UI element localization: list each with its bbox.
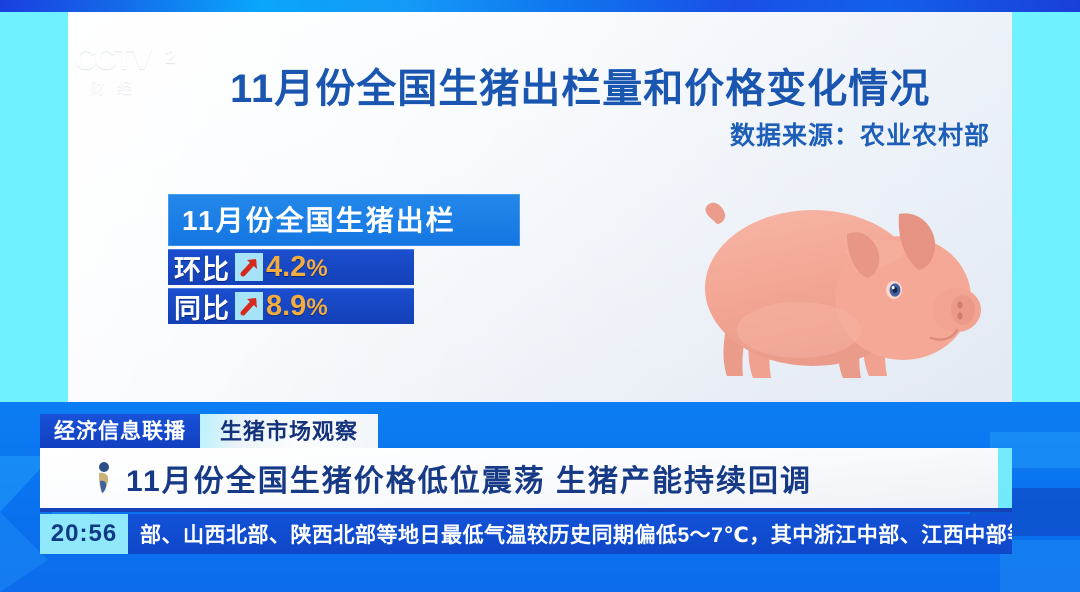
clock-time: 20:56 bbox=[40, 514, 128, 554]
stat-row-label: 同比 bbox=[174, 287, 230, 326]
stat-row-value: 8.9% bbox=[266, 290, 328, 323]
headline-text: 11月份全国生猪价格低位震荡 生猪产能持续回调 bbox=[126, 456, 812, 500]
data-source-label: 数据来源：农业农村部 bbox=[230, 116, 990, 152]
news-ticker: 20:56 部、山西北部、陕西北部等地日最低气温较历史同期偏低5～7℃，其中浙江… bbox=[40, 514, 1012, 554]
left-cyan-strip bbox=[0, 12, 68, 402]
cctv-logo-text: CCTV bbox=[74, 42, 150, 76]
stat-card-header: 11月份全国生猪出栏 bbox=[168, 194, 520, 246]
cctv-channel-number: 2 bbox=[153, 42, 187, 76]
right-cyan-strip bbox=[1012, 12, 1080, 402]
stat-row-value: 4.2% bbox=[266, 251, 328, 284]
tab-segment-name[interactable]: 生猪市场观察 bbox=[200, 414, 378, 448]
cctv-logo: CCTV 2 财经 bbox=[74, 42, 214, 102]
pig-illustration bbox=[695, 180, 1000, 395]
stat-row: 同比 8.9% bbox=[168, 288, 414, 324]
stat-card: 11月份全国生猪出栏 环比 4.2% 同比 bbox=[168, 194, 520, 324]
ticker-text: 部、山西北部、陕西北部等地日最低气温较历史同期偏低5～7℃，其中浙江中部、江西中… bbox=[128, 514, 1012, 554]
cctv-logo-mark: CCTV 2 bbox=[74, 42, 214, 76]
program-tabs: 经济信息联播 生猪市场观察 bbox=[40, 414, 378, 448]
stat-value-number: 8.9 bbox=[266, 290, 306, 322]
stat-row: 环比 4.2% bbox=[168, 249, 414, 285]
stat-value-unit: % bbox=[306, 294, 327, 321]
top-gradient-band bbox=[0, 0, 1080, 12]
bullet-figure-icon bbox=[92, 461, 114, 495]
stat-value-number: 4.2 bbox=[266, 251, 306, 283]
lower-banner: 经济信息联播 生猪市场观察 11月份全国生猪价格低位震荡 生猪产能持续回调 20… bbox=[0, 402, 1080, 592]
headline-bar: 11月份全国生猪价格低位震荡 生猪产能持续回调 bbox=[40, 448, 1012, 512]
page-title: 11月份全国生猪出栏量和价格变化情况 bbox=[230, 56, 990, 114]
headline-accent-edge bbox=[998, 448, 1012, 508]
up-arrow-icon bbox=[235, 253, 263, 281]
chart-stage: CCTV 2 财经 11月份全国生猪出栏量和价格变化情况 数据来源：农业农村部 … bbox=[0, 12, 1080, 402]
broadcast-screen: CCTV 2 财经 11月份全国生猪出栏量和价格变化情况 数据来源：农业农村部 … bbox=[0, 0, 1080, 592]
up-arrow-icon bbox=[235, 292, 263, 320]
stat-value-unit: % bbox=[306, 255, 327, 282]
cctv-channel-name: 财经 bbox=[90, 77, 214, 98]
tab-program-name[interactable]: 经济信息联播 bbox=[40, 414, 200, 448]
stat-row-label: 环比 bbox=[174, 248, 230, 287]
